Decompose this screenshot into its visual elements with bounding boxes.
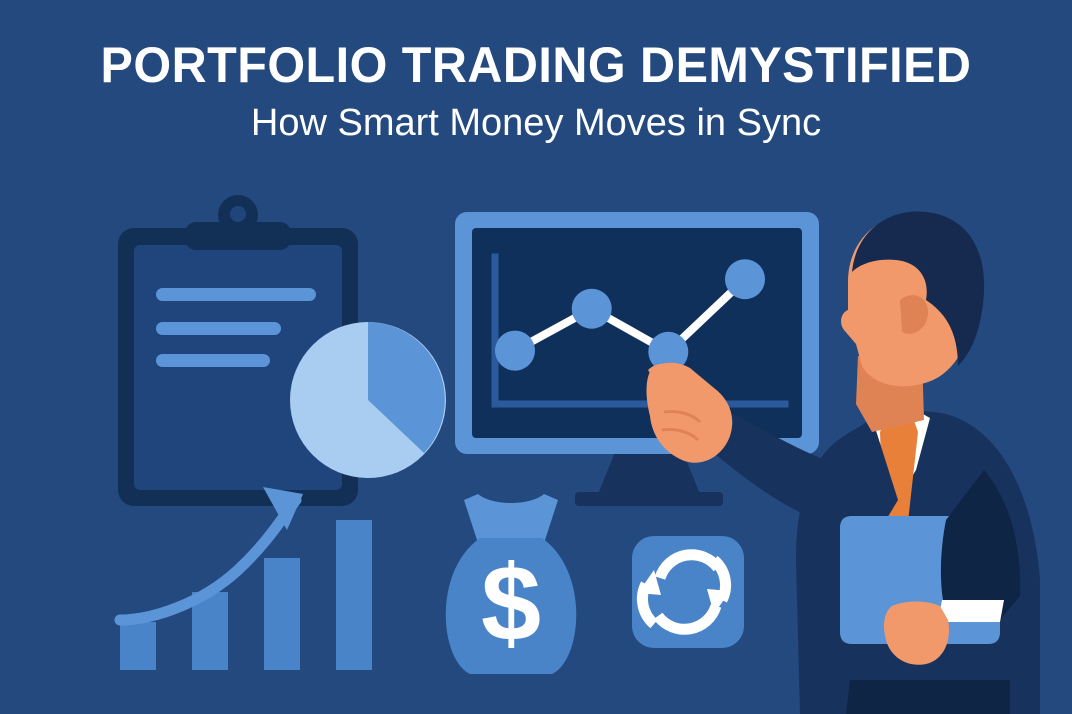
pie-chart (290, 322, 446, 478)
chart-data-point (725, 259, 765, 299)
bars-group (120, 520, 372, 670)
page-title: PORTFOLIO TRADING DEMYSTIFIED (16, 0, 1056, 90)
growth-bar (120, 622, 156, 670)
businessman-cuff-lower (938, 600, 1004, 622)
growth-bar (336, 520, 372, 670)
money-bag-dollar-icon: $ (481, 542, 541, 663)
growth-bar-chart (120, 487, 372, 670)
clipboard-text-line (156, 354, 270, 367)
clipboard-text-line (156, 288, 316, 301)
sync-icon[interactable] (632, 536, 744, 648)
page-subtitle: How Smart Money Moves in Sync (0, 90, 1072, 142)
money-bag-tie (464, 494, 558, 540)
businessman-trousers (846, 680, 1010, 714)
chart-data-point (495, 331, 535, 371)
heading-block: PORTFOLIO TRADING DEMYSTIFIED How Smart … (0, 0, 1072, 142)
poster-canvas: $ (0, 0, 1072, 714)
chart-data-point (572, 289, 612, 329)
growth-bar (264, 558, 300, 670)
clipboard-text-line (156, 322, 281, 335)
money-bag: $ (446, 494, 577, 674)
clipboard-clip-hole (230, 206, 246, 222)
monitor-stand-base (575, 492, 723, 506)
